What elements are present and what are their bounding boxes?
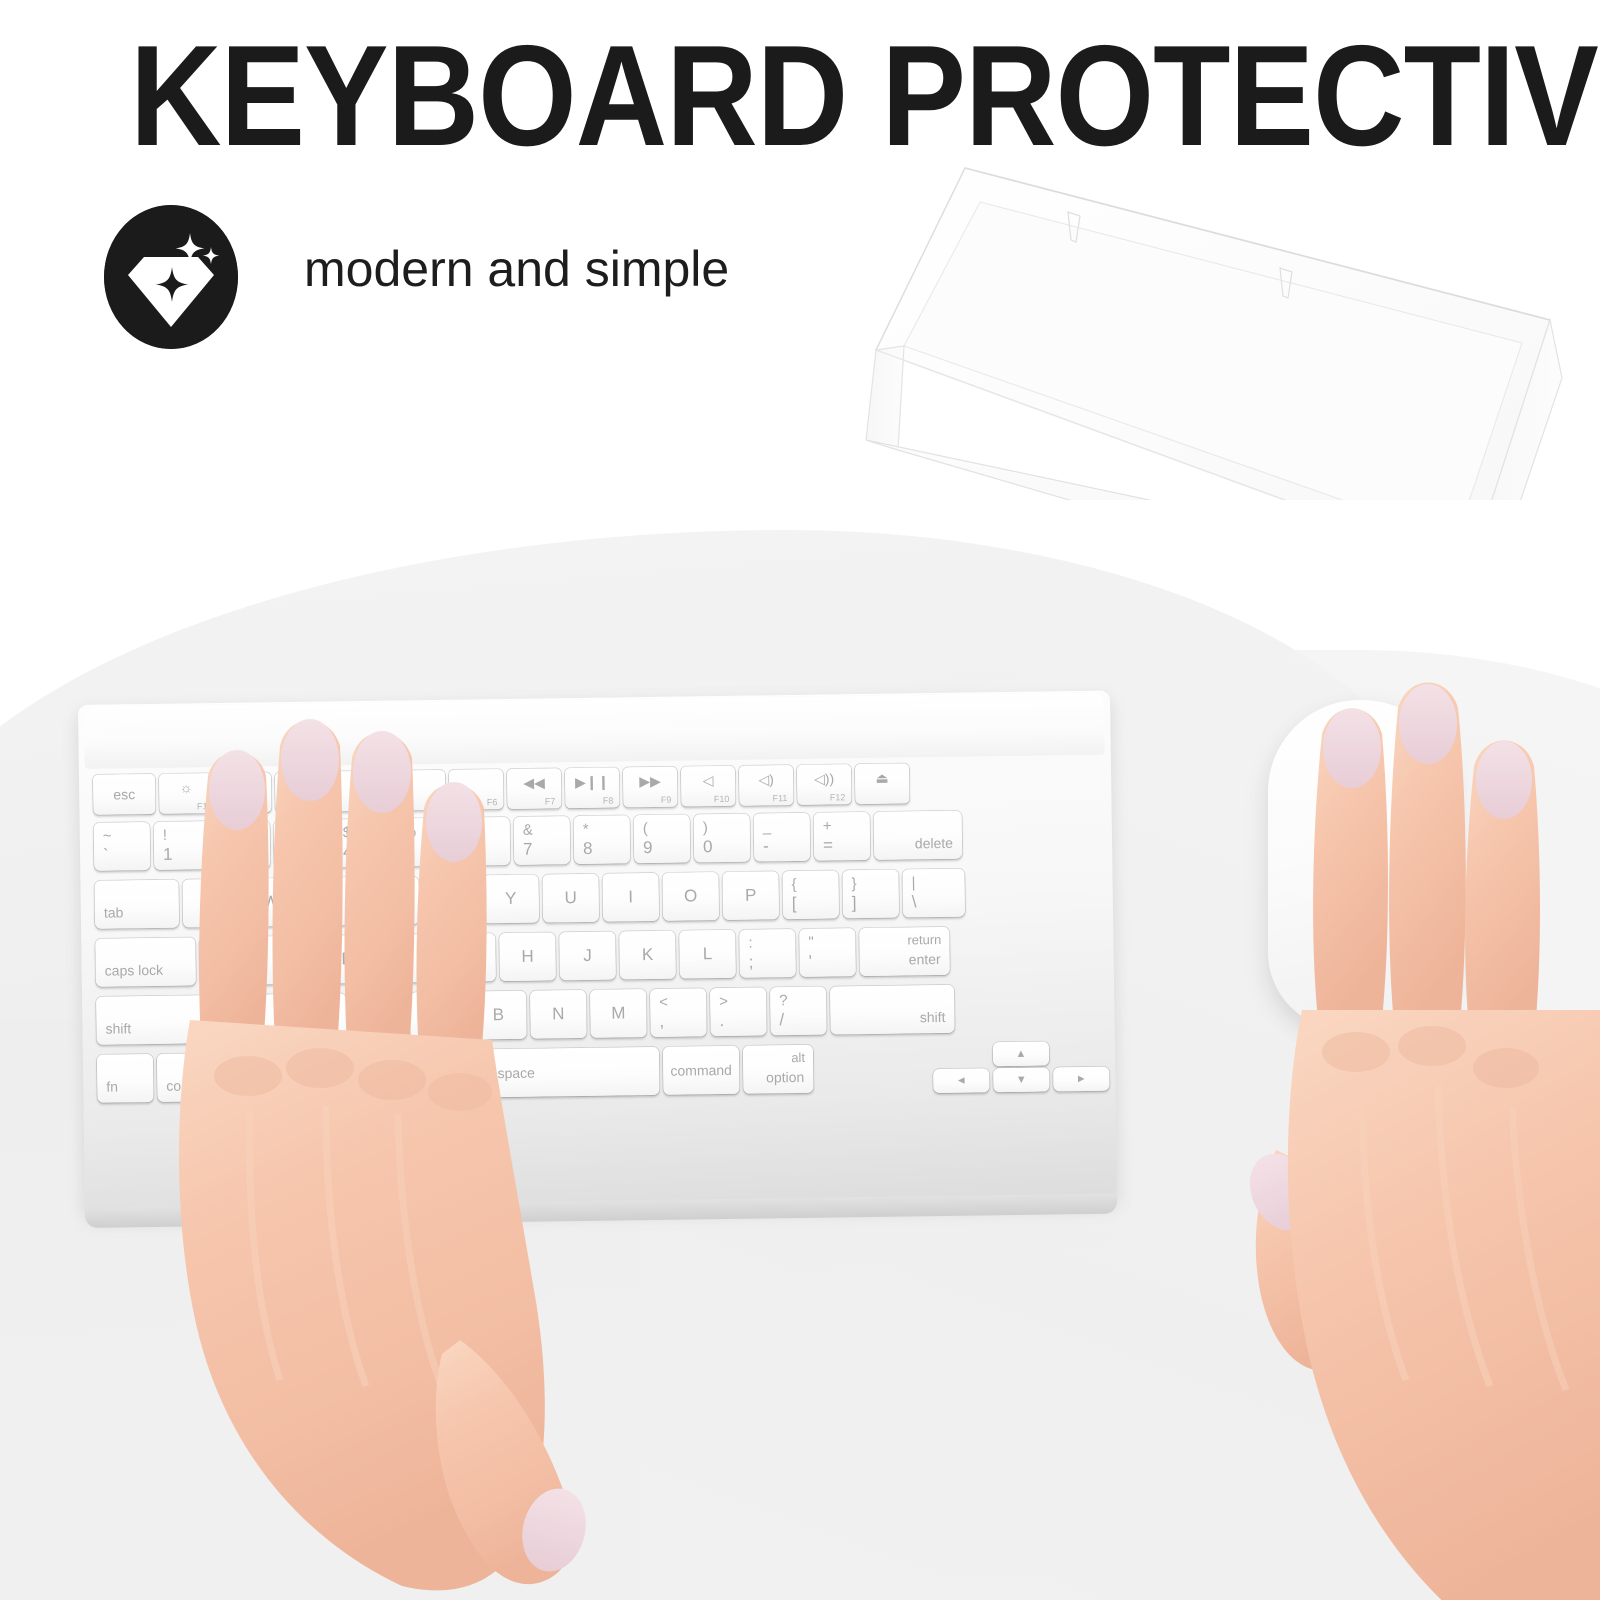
- key-shift-label: +: [823, 817, 832, 834]
- key-label: P: [723, 885, 779, 906]
- key-alt-label: alt: [791, 1050, 805, 1065]
- left-hand-on-keyboard: [130, 640, 690, 1600]
- feature-item-modern-and-simple: modern and simple: [104, 205, 864, 365]
- key-label: enter: [909, 951, 941, 967]
- key-shift[interactable]: shift: [830, 985, 955, 1035]
- key-key[interactable]: |\: [902, 869, 965, 918]
- key-label: ': [809, 952, 813, 972]
- key-shift-label: >: [719, 993, 728, 1010]
- eject-icon: ⏏: [855, 769, 909, 787]
- arrow-left-icon: ◄: [933, 1074, 989, 1087]
- key-delete[interactable]: delete: [874, 811, 963, 860]
- key-function-number: F10: [714, 794, 730, 804]
- volume-down-icon: ◁): [739, 771, 793, 789]
- key-shift-label: |: [911, 874, 915, 891]
- key-label: fn: [106, 1078, 118, 1094]
- key-shift-label: ": [808, 934, 814, 951]
- key-key[interactable]: +=: [814, 812, 871, 861]
- key-label: shift: [105, 1020, 131, 1036]
- keyboard-row-shift: shiftZXCVBNM<,>.?/shift: [96, 997, 97, 1051]
- key-shift-label: _: [763, 818, 772, 835]
- right-hand-on-mouse: [1206, 680, 1600, 1600]
- key-shift-label: ): [703, 819, 708, 836]
- key-key[interactable]: ?/: [770, 987, 827, 1036]
- arrow-up-icon: ▲: [993, 1047, 1049, 1060]
- keyboard-row-number: ~`!1@2#3$4%5^6&7*8(9)0_-+=delete: [94, 823, 95, 877]
- arrow-down-icon: ▼: [993, 1073, 1049, 1086]
- key-label: ]: [852, 893, 857, 913]
- key-key[interactable]: {[: [782, 870, 839, 919]
- key-enter[interactable]: enterreturn: [859, 927, 950, 976]
- key-option[interactable]: optionalt: [743, 1045, 814, 1094]
- key-eject-icon[interactable]: ⏏: [855, 763, 910, 804]
- key-p[interactable]: P: [722, 871, 779, 920]
- page-title-text: KEYBOARD PROTECTIVE CASE: [130, 24, 1600, 170]
- page-title: KEYBOARD PROTECTIVE CASE: [130, 24, 1490, 170]
- key-function-number: F12: [830, 792, 846, 802]
- key-label: shift: [920, 1009, 946, 1025]
- key-label: /: [779, 1010, 784, 1030]
- key-shift-label: ~: [103, 828, 112, 845]
- key-label: 0: [703, 837, 713, 857]
- feature-list: modern and simple Pretty and e: [104, 205, 864, 525]
- key-alt-label: return: [907, 932, 941, 947]
- keyboard-row-home: caps lockASDFGHJKL:;"'enterreturn: [95, 939, 96, 993]
- key-label: .: [719, 1011, 724, 1031]
- key-shift-label: }: [851, 875, 856, 892]
- key-key[interactable]: :;: [739, 929, 796, 978]
- volume-up-icon: ◁)): [797, 770, 851, 788]
- key-label: ;: [749, 953, 754, 973]
- keyboard-row-function: esc☼F1☀F2▫▫F3▦F4F5F6◀◀F7▶❙❙F8▶▶F9◁F10◁)F…: [93, 775, 94, 829]
- key-label: \: [912, 892, 917, 912]
- key-volume-up-icon[interactable]: ◁))F12: [797, 764, 852, 805]
- key-label: `: [103, 846, 109, 866]
- arrow-right-icon: ►: [1053, 1073, 1109, 1086]
- feature-label: modern and simple: [304, 239, 729, 299]
- key-0[interactable]: )0: [694, 814, 751, 863]
- product-lifestyle-photo: esc☼F1☀F2▫▫F3▦F4F5F6◀◀F7▶❙❙F8▶▶F9◁F10◁)F…: [0, 500, 1600, 1600]
- product-marketing-image: KEYBOARD PROTECTIVE CASE modern and simp…: [0, 0, 1600, 1600]
- key-arrow-right[interactable]: ►: [1053, 1067, 1109, 1092]
- key-label: -: [763, 836, 769, 856]
- key-shift-label: ?: [779, 992, 788, 1009]
- key-label: delete: [915, 835, 953, 852]
- key-key[interactable]: >.: [710, 987, 767, 1036]
- key-key[interactable]: _-: [754, 813, 811, 862]
- key-key[interactable]: }]: [842, 870, 899, 919]
- key-arrow-left[interactable]: ◄: [933, 1068, 989, 1093]
- key-label: [: [792, 894, 797, 914]
- key-label: tab: [104, 904, 124, 920]
- keyboard-row-bottom: fncontroloptionaltcommandspacecommandopt…: [97, 1055, 98, 1109]
- key-label: =: [823, 835, 833, 855]
- keyboard-row-qwerty: tabQWERTYUIOP{[}]|\: [94, 881, 95, 935]
- key-arrow-down[interactable]: ▼: [993, 1067, 1049, 1092]
- key-function-number: F11: [772, 793, 787, 803]
- key-volume-down-icon[interactable]: ◁)F11: [739, 765, 794, 806]
- key-arrow-up[interactable]: ▲: [993, 1041, 1049, 1066]
- diamond-sparkle-icon: [104, 205, 238, 349]
- key-shift-label: :: [748, 935, 752, 952]
- key-key[interactable]: "': [799, 928, 856, 977]
- key-shift-label: {: [791, 876, 796, 893]
- key-label: option: [766, 1069, 804, 1086]
